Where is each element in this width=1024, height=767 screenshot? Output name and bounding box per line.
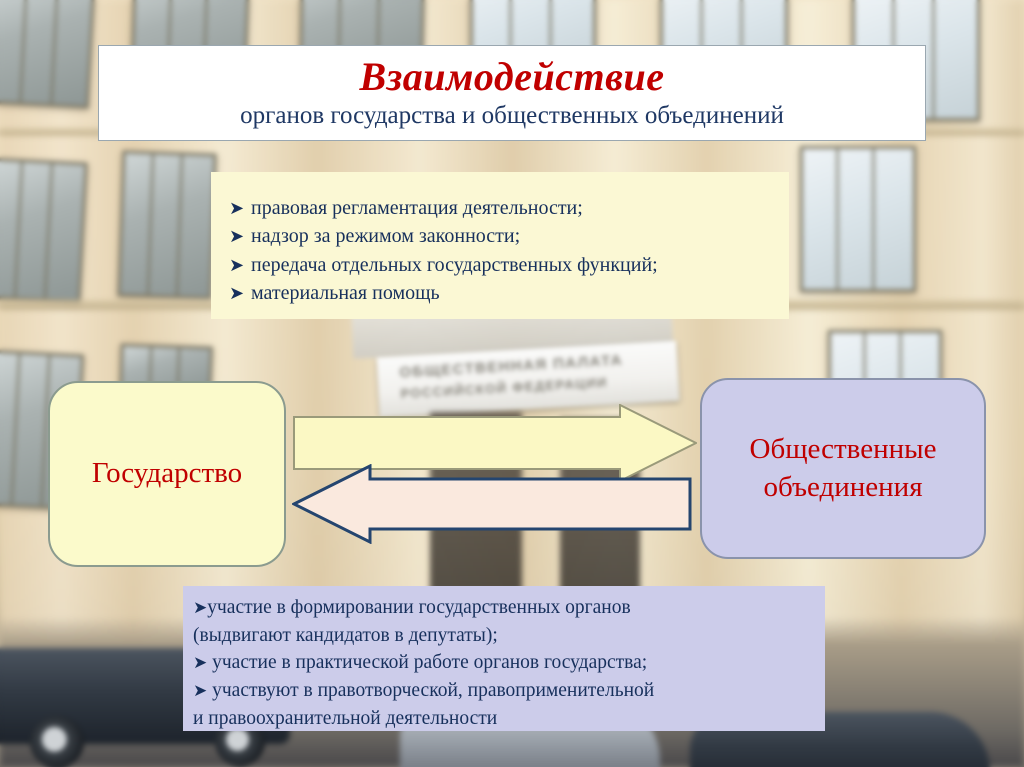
list-item-label: участвуют в правотворческой, правопримен… xyxy=(207,680,654,701)
list-item: ➤ материальная помощь xyxy=(229,279,773,307)
arrow-bullet-icon: ➤ xyxy=(229,196,251,222)
page-title: Взаимодействие xyxy=(360,56,665,98)
list-item: ➤ участие в практической работе органов … xyxy=(193,649,815,677)
arrow-bullet-icon: ➤ xyxy=(229,224,251,250)
entity-associations-label: Общественные объединения xyxy=(750,431,937,505)
list-item: ➤ передача отдельных государственных фун… xyxy=(229,251,773,279)
entity-box-associations[interactable]: Общественные объединения xyxy=(700,378,986,559)
list-item-label: и правоохранительной деятельности xyxy=(193,708,497,729)
entity-state-label: Государство xyxy=(92,455,242,492)
list-item-continuation: и правоохранительной деятельности xyxy=(193,705,815,733)
list-item-label: (выдвигают кандидатов в депутаты); xyxy=(193,625,498,646)
state-functions-panel: ➤ правовая регламентация деятельности; ➤… xyxy=(211,172,789,319)
list-item-label: материальная помощь xyxy=(251,279,440,307)
associations-functions-panel: ➤участие в формировании государственных … xyxy=(183,586,825,731)
arrow-associations-to-state: left xyxy=(292,464,692,544)
list-item: ➤ надзор за режимом законности; xyxy=(229,222,773,250)
arrow-bullet-icon: ➤ xyxy=(229,253,251,279)
page-subtitle: органов государства и общественных объед… xyxy=(240,102,784,131)
entity-associations-label-line-1: Общественные xyxy=(750,433,937,465)
arrow-bullet-icon: ➤ xyxy=(193,681,207,700)
list-item-label: участие в практической работе органов го… xyxy=(207,652,647,673)
entity-box-state[interactable]: Государство xyxy=(48,381,286,567)
list-item: ➤ участвуют в правотворческой, правоприм… xyxy=(193,677,815,705)
list-item: ➤ правовая регламентация деятельности; xyxy=(229,194,773,222)
arrow-bullet-icon: ➤ xyxy=(229,281,251,307)
arrow-bullet-icon: ➤ xyxy=(193,598,207,617)
list-item: ➤участие в формировании государственных … xyxy=(193,594,815,622)
list-item-label: правовая регламентация деятельности; xyxy=(251,194,583,222)
arrow-bullet-icon: ➤ xyxy=(193,653,207,672)
list-item-label: участие в формировании государственных о… xyxy=(207,597,630,618)
slide-canvas: ОБЩЕСТВЕННАЯ ПАЛАТА РОССИЙСКОЙ ФЕДЕРАЦИИ… xyxy=(0,0,1024,767)
entity-associations-label-line-2: объединения xyxy=(763,471,922,503)
list-item-label: передача отдельных государственных функц… xyxy=(251,251,658,279)
list-item-continuation: (выдвигают кандидатов в депутаты); xyxy=(193,622,815,650)
title-card: Взаимодействие органов государства и общ… xyxy=(98,45,926,141)
list-item-label: надзор за режимом законности; xyxy=(251,222,520,250)
